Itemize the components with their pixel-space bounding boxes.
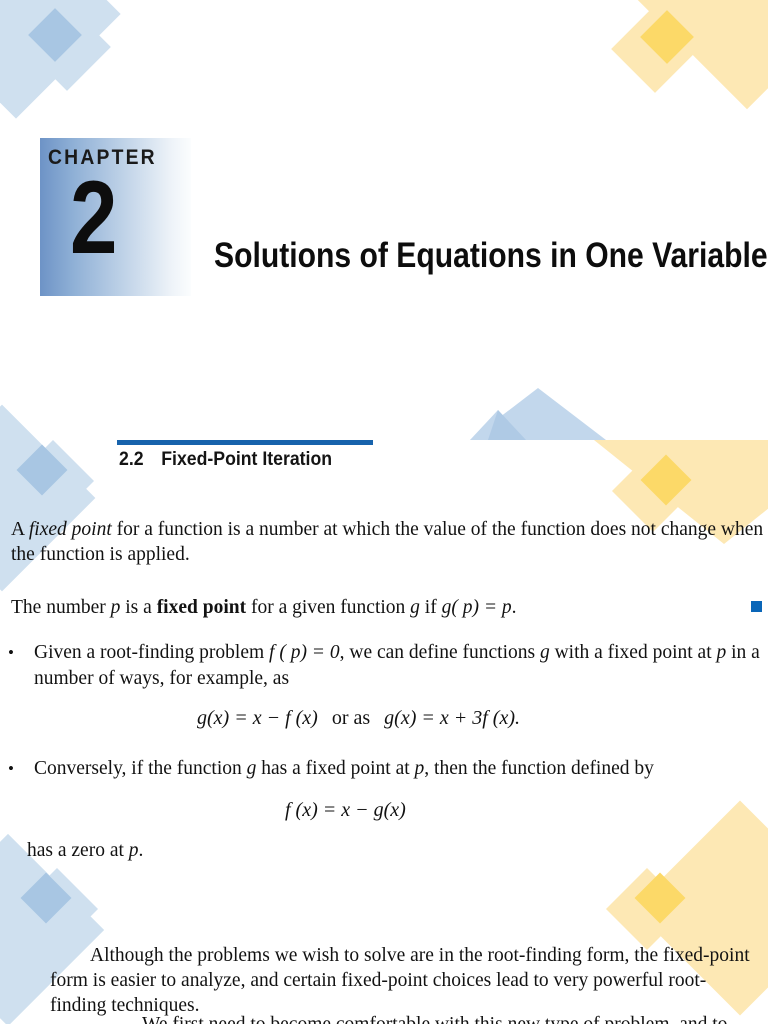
deco-diamond-top-left-large [0,0,121,119]
fp-var-g: g [410,597,420,618]
b1-expr1: f ( p) = 0 [269,642,340,663]
deco-diamond-mid-right-overlap [641,455,692,506]
deco-diamond-bottom-right-overlap [635,873,686,924]
b2-var-g: g [247,758,257,779]
fp-part5: . [512,597,517,618]
b1-part3: with a fixed point at [550,642,717,663]
margin-marker-icon [751,601,762,612]
bullet-1-text: Given a root-finding problem f ( p) = 0,… [34,640,764,692]
fp-part2: is a [120,597,156,618]
fp-part1: The number [11,597,111,618]
deco-diamond-top-right-small [611,5,699,93]
eq1-left: g(x) = x − f (x) [197,707,318,729]
b2-var-p: p [415,758,425,779]
last-partial-line: We first need to become comfortable with… [50,1012,756,1024]
deco-diamond-top-right-large [627,0,768,109]
definition-part2: for a function is a number at which the … [11,519,763,565]
textbook-page: CHAPTER 2 Solutions of Equations in One … [0,0,768,1024]
fixed-point-statement: The number p is a fixed point for a give… [11,595,731,620]
b2-part3: , then the function defined by [424,758,654,779]
deco-diamond-mid-left-overlap [17,445,68,496]
fp-bold-term: fixed point [157,597,246,618]
eq1-connector: or as [318,707,384,729]
b1-part2: , we can define functions [340,642,540,663]
deco-diamond-mid-left-small [12,440,94,522]
bullet-marker-icon: • [8,640,26,666]
fp-part3: for a given function [246,597,410,618]
list-item: • Given a root-finding problem f ( p) = … [8,640,764,692]
b2-part1: Conversely, if the function [34,758,247,779]
definition-part1: A [11,519,29,540]
section-title: Fixed-Point Iteration [161,449,332,470]
deco-diamond-bottom-left-small [16,868,98,950]
definition-paragraph: A fixed point for a function is a number… [11,517,768,567]
eq1-right: g(x) = x + 3f (x). [384,707,520,729]
deco-diamond-top-left-overlap [28,8,82,62]
section-number: 2.2 [119,449,144,470]
b2-part2: has a fixed point at [256,758,414,779]
deco-diamond-bottom-right-small [606,868,688,950]
b1-var-p: p [717,642,727,663]
fp-part4: if [420,597,442,618]
fp-var-p: p [111,597,121,618]
deco-diamond-top-left-small [23,3,111,91]
deco-diamond-bottom-left-overlap [21,873,72,924]
has-zero-line: has a zero at p. [27,838,427,863]
b1-var-g: g [540,642,550,663]
chapter-number-block: CHAPTER 2 [40,138,191,296]
b1-part1: Given a root-finding problem [34,642,269,663]
equation-g-definitions: g(x) = x − f (x)or asg(x) = x + 3f (x). [197,707,520,730]
bullet-marker-icon: • [8,756,26,782]
fp-expression: g( p) = p [442,597,512,618]
hz-part2: . [139,840,144,861]
chapter-number: 2 [70,166,117,270]
section-heading: 2.2Fixed-Point Iteration [119,449,332,472]
hz-part1: has a zero at [27,840,129,861]
bullet-2-text: Conversely, if the function g has a fixe… [34,756,758,782]
list-item: • Conversely, if the function g has a fi… [8,756,758,782]
equation-f-from-g: f (x) = x − g(x) [285,799,406,822]
hz-var-p: p [129,840,139,861]
definition-italic-term: fixed point [29,519,112,540]
deco-diamond-top-right-overlap [640,10,694,64]
section-heading-rule [117,440,373,445]
page-title: Solutions of Equations in One Variable [214,238,768,273]
closing-paragraph: Although the problems we wish to solve a… [50,943,752,1018]
deco-triangles-mid-right [470,388,670,448]
